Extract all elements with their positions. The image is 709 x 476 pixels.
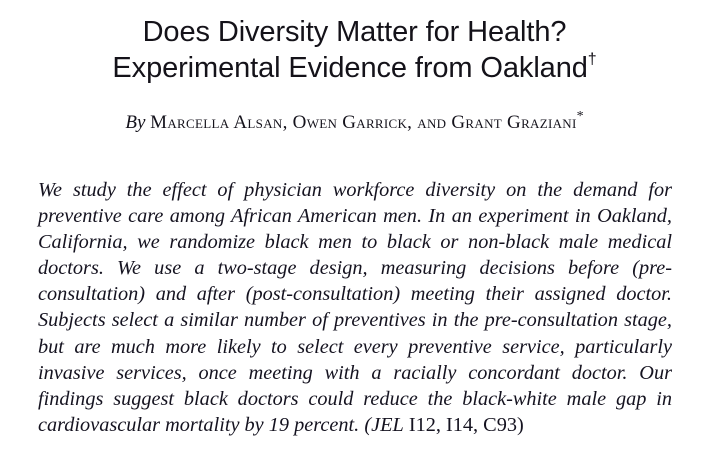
byline-footnote-asterisk-icon: * (577, 109, 584, 124)
title-line-2-text: Experimental Evidence from Oakland (112, 52, 587, 84)
abstract-jel-label: (JEL (364, 414, 403, 436)
author-byline: By Marcella Alsan, Owen Garrick, and Gra… (0, 110, 709, 136)
paper-header-page: Does Diversity Matter for Health? Experi… (0, 0, 709, 476)
abstract-jel-codes: I12, I14, C93) (404, 414, 524, 436)
title-line-1: Does Diversity Matter for Health? (0, 14, 709, 50)
byline-prefix: By (125, 112, 145, 133)
paper-title: Does Diversity Matter for Health? Experi… (0, 14, 709, 86)
abstract-body: We study the effect of physician workfor… (38, 179, 672, 436)
title-footnote-dagger-icon: † (588, 51, 597, 68)
title-line-2: Experimental Evidence from Oakland† (0, 50, 709, 86)
byline-authors: Marcella Alsan, Owen Garrick, and Grant … (150, 112, 576, 133)
paper-abstract: We study the effect of physician workfor… (38, 177, 672, 438)
